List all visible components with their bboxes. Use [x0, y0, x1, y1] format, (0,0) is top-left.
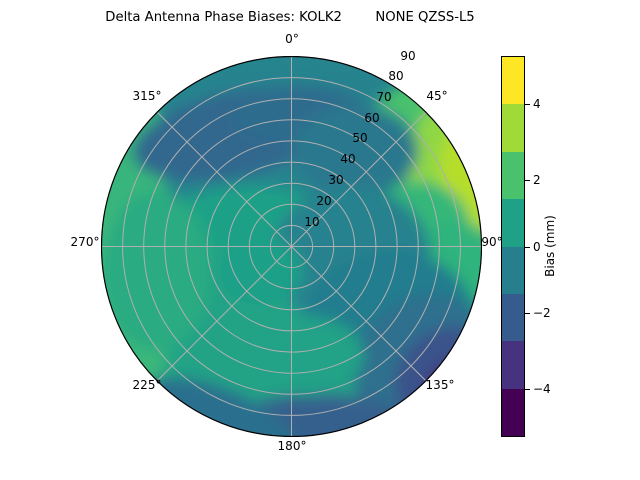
figure-canvas: Delta Antenna Phase Biases: KOLK2 NONE Q…	[0, 0, 640, 480]
colorbar-tick-mark-4	[525, 104, 530, 105]
radial-tick-70: 70	[376, 90, 391, 104]
colorbar-gradient	[501, 56, 525, 437]
angular-tick-90: 90°	[481, 235, 502, 249]
colorbar-tick-label-m4: −4	[533, 382, 551, 396]
colorbar-tick-mark-m4	[525, 389, 530, 390]
colorbar-segment-m2-m1	[502, 294, 524, 341]
colorbar-tick-mark-m2	[525, 313, 530, 314]
colorbar-segment-0-1	[502, 247, 524, 294]
colorbar: 4 2 0 −2 −4	[501, 56, 525, 437]
contour-blob-green-midwest	[101, 191, 211, 351]
radial-tick-10: 10	[304, 215, 319, 229]
angular-tick-315: 315°	[133, 89, 162, 103]
radial-tick-50: 50	[352, 131, 367, 145]
colorbar-tick-label-0: 0	[533, 240, 541, 254]
angular-tick-0: 0°	[285, 32, 299, 46]
contour-blob-teal-ne-inner	[294, 105, 418, 197]
page-title: Delta Antenna Phase Biases: KOLK2 NONE Q…	[0, 10, 580, 25]
radial-tick-40: 40	[340, 152, 355, 166]
colorbar-segment-m5-m4	[502, 389, 524, 436]
angular-tick-270: 270°	[71, 235, 100, 249]
colorbar-segment-4-5	[502, 57, 524, 104]
colorbar-tick-mark-2	[525, 180, 530, 181]
colorbar-axis-label: Bias (mm)	[543, 215, 557, 277]
colorbar-tick-label-4: 4	[533, 97, 541, 111]
colorbar-segment-3-4	[502, 104, 524, 151]
radial-tick-30: 30	[328, 173, 343, 187]
radial-tick-60: 60	[364, 111, 379, 125]
colorbar-tick-mark-0	[525, 247, 530, 248]
angular-tick-225: 225°	[133, 378, 162, 392]
colorbar-segment-2-3	[502, 152, 524, 199]
radial-tick-80: 80	[388, 69, 403, 83]
radial-tick-20: 20	[316, 194, 331, 208]
colorbar-segment-1-2	[502, 199, 524, 246]
colorbar-tick-label-m2: −2	[533, 306, 551, 320]
angular-tick-45: 45°	[426, 89, 447, 103]
colorbar-segment-m4-m2	[502, 341, 524, 388]
radial-tick-90: 90	[400, 49, 415, 63]
colorbar-tick-label-2: 2	[533, 173, 541, 187]
angular-tick-180: 180°	[278, 439, 307, 453]
angular-tick-135: 135°	[426, 378, 455, 392]
